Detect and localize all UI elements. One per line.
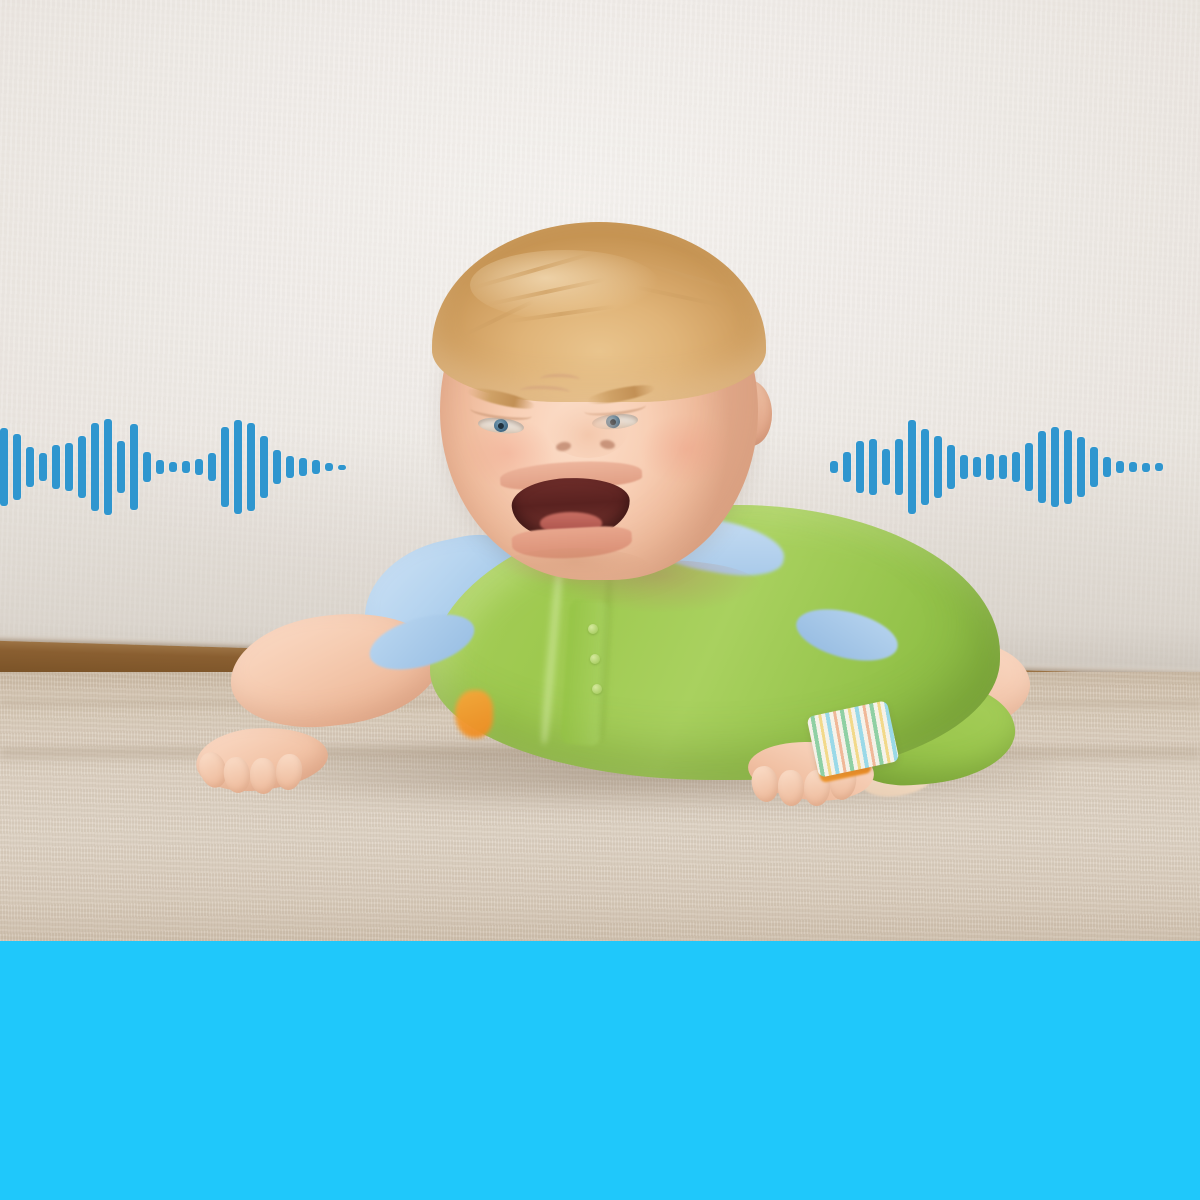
romper-orange-detail — [455, 690, 493, 738]
pupil — [498, 423, 505, 430]
iris — [493, 418, 508, 432]
baby-subject — [0, 0, 1200, 941]
caption-banner: Abnormal Sound Detection Notifies you wh… — [0, 941, 1200, 1200]
chin-shadow — [500, 548, 650, 586]
romper-button — [590, 654, 600, 664]
romper-button — [588, 624, 598, 634]
romper-button — [592, 684, 602, 694]
promo-image: Abnormal Sound Detection Notifies you wh… — [0, 0, 1200, 1200]
cheek-right — [640, 414, 732, 484]
product-photo — [0, 0, 1200, 941]
